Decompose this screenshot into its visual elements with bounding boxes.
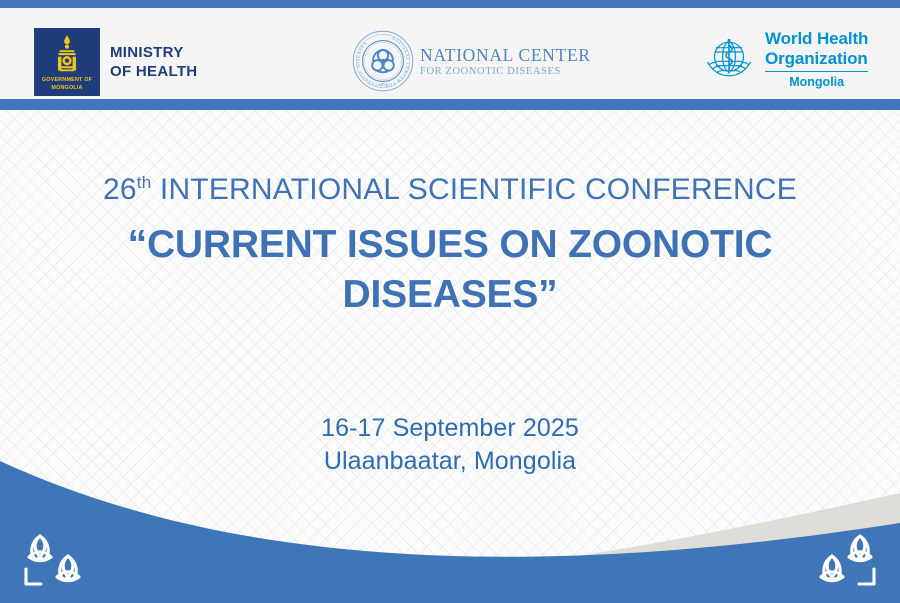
mongolia-soyombo-icon	[47, 34, 87, 80]
wave-gray-band	[0, 493, 900, 603]
triquetra-ornament-right	[808, 529, 886, 591]
event-location: Ulaanbaatar, Mongolia	[0, 445, 900, 478]
triquetra-knot-pair-right-icon	[808, 529, 886, 591]
nczd-wordmark-line1: NATIONAL CENTER	[420, 45, 591, 65]
national-center-zoonotic-diseases-logo: NATIONAL CENTER FOR ZOONOTIC DISEASES 19…	[352, 30, 591, 92]
event-dates: 16-17 September 2025	[0, 412, 900, 445]
top-accent-bar	[0, 0, 900, 8]
nczd-wordmark: NATIONAL CENTER FOR ZOONOTIC DISEASES	[420, 45, 591, 78]
triquetra-ornament-left	[14, 529, 92, 591]
conference-edition-line: 26th INTERNATIONAL SCIENTIFIC CONFERENCE	[0, 172, 900, 208]
who-mongolia-logo: World Health Organization Mongolia	[700, 29, 868, 89]
government-emblem-caption: GOVERNMENT OF MONGOLIA	[34, 77, 100, 92]
logo-header-band: GOVERNMENT OF MONGOLIA MINISTRY OF HEALT…	[0, 8, 900, 99]
conference-edition-number: 26	[103, 173, 137, 206]
who-rod-of-asclepius-icon	[700, 30, 758, 88]
government-emblem-caption-line1: GOVERNMENT OF	[34, 77, 100, 84]
mongolia-government-emblem: GOVERNMENT OF MONGOLIA	[34, 28, 100, 96]
ministry-wordmark-line1: MINISTRY	[110, 43, 197, 62]
svg-text:1951: 1951	[379, 82, 388, 87]
who-wordmark: World Health Organization Mongolia	[765, 29, 868, 89]
header-divider-bar	[0, 99, 900, 110]
zoonotic-trefoil-seal-icon: NATIONAL CENTER FOR ZOONOTIC DISEASES 19…	[352, 30, 414, 92]
page-title: “CURRENT ISSUES ON ZOONOTIC DISEASES”	[0, 220, 900, 320]
wave-blue-band	[0, 461, 900, 603]
conference-edition-text: INTERNATIONAL SCIENTIFIC CONFERENCE	[151, 173, 797, 206]
ministry-of-health-logo: GOVERNMENT OF MONGOLIA MINISTRY OF HEALT…	[34, 28, 197, 96]
event-details-block: 16-17 September 2025 Ulaanbaatar, Mongol…	[0, 412, 900, 478]
who-wordmark-line1: World Health	[765, 29, 868, 49]
who-wordmark-line2: Organization	[765, 49, 868, 69]
conference-edition-ordinal-suffix: th	[137, 173, 152, 192]
who-country-label: Mongolia	[765, 75, 868, 89]
conference-title-slide: GOVERNMENT OF MONGOLIA MINISTRY OF HEALT…	[0, 0, 900, 603]
nczd-wordmark-line2: FOR ZOONOTIC DISEASES	[420, 65, 591, 78]
who-wordmark-divider	[765, 71, 868, 73]
triquetra-knot-pair-left-icon	[14, 529, 92, 591]
ministry-of-health-wordmark: MINISTRY OF HEALTH	[110, 43, 197, 81]
title-block: 26th INTERNATIONAL SCIENTIFIC CONFERENCE…	[0, 172, 900, 320]
slide-body: 26th INTERNATIONAL SCIENTIFIC CONFERENCE…	[0, 110, 900, 603]
ministry-wordmark-line2: OF HEALTH	[110, 62, 197, 81]
government-emblem-caption-line2: MONGOLIA	[34, 85, 100, 92]
